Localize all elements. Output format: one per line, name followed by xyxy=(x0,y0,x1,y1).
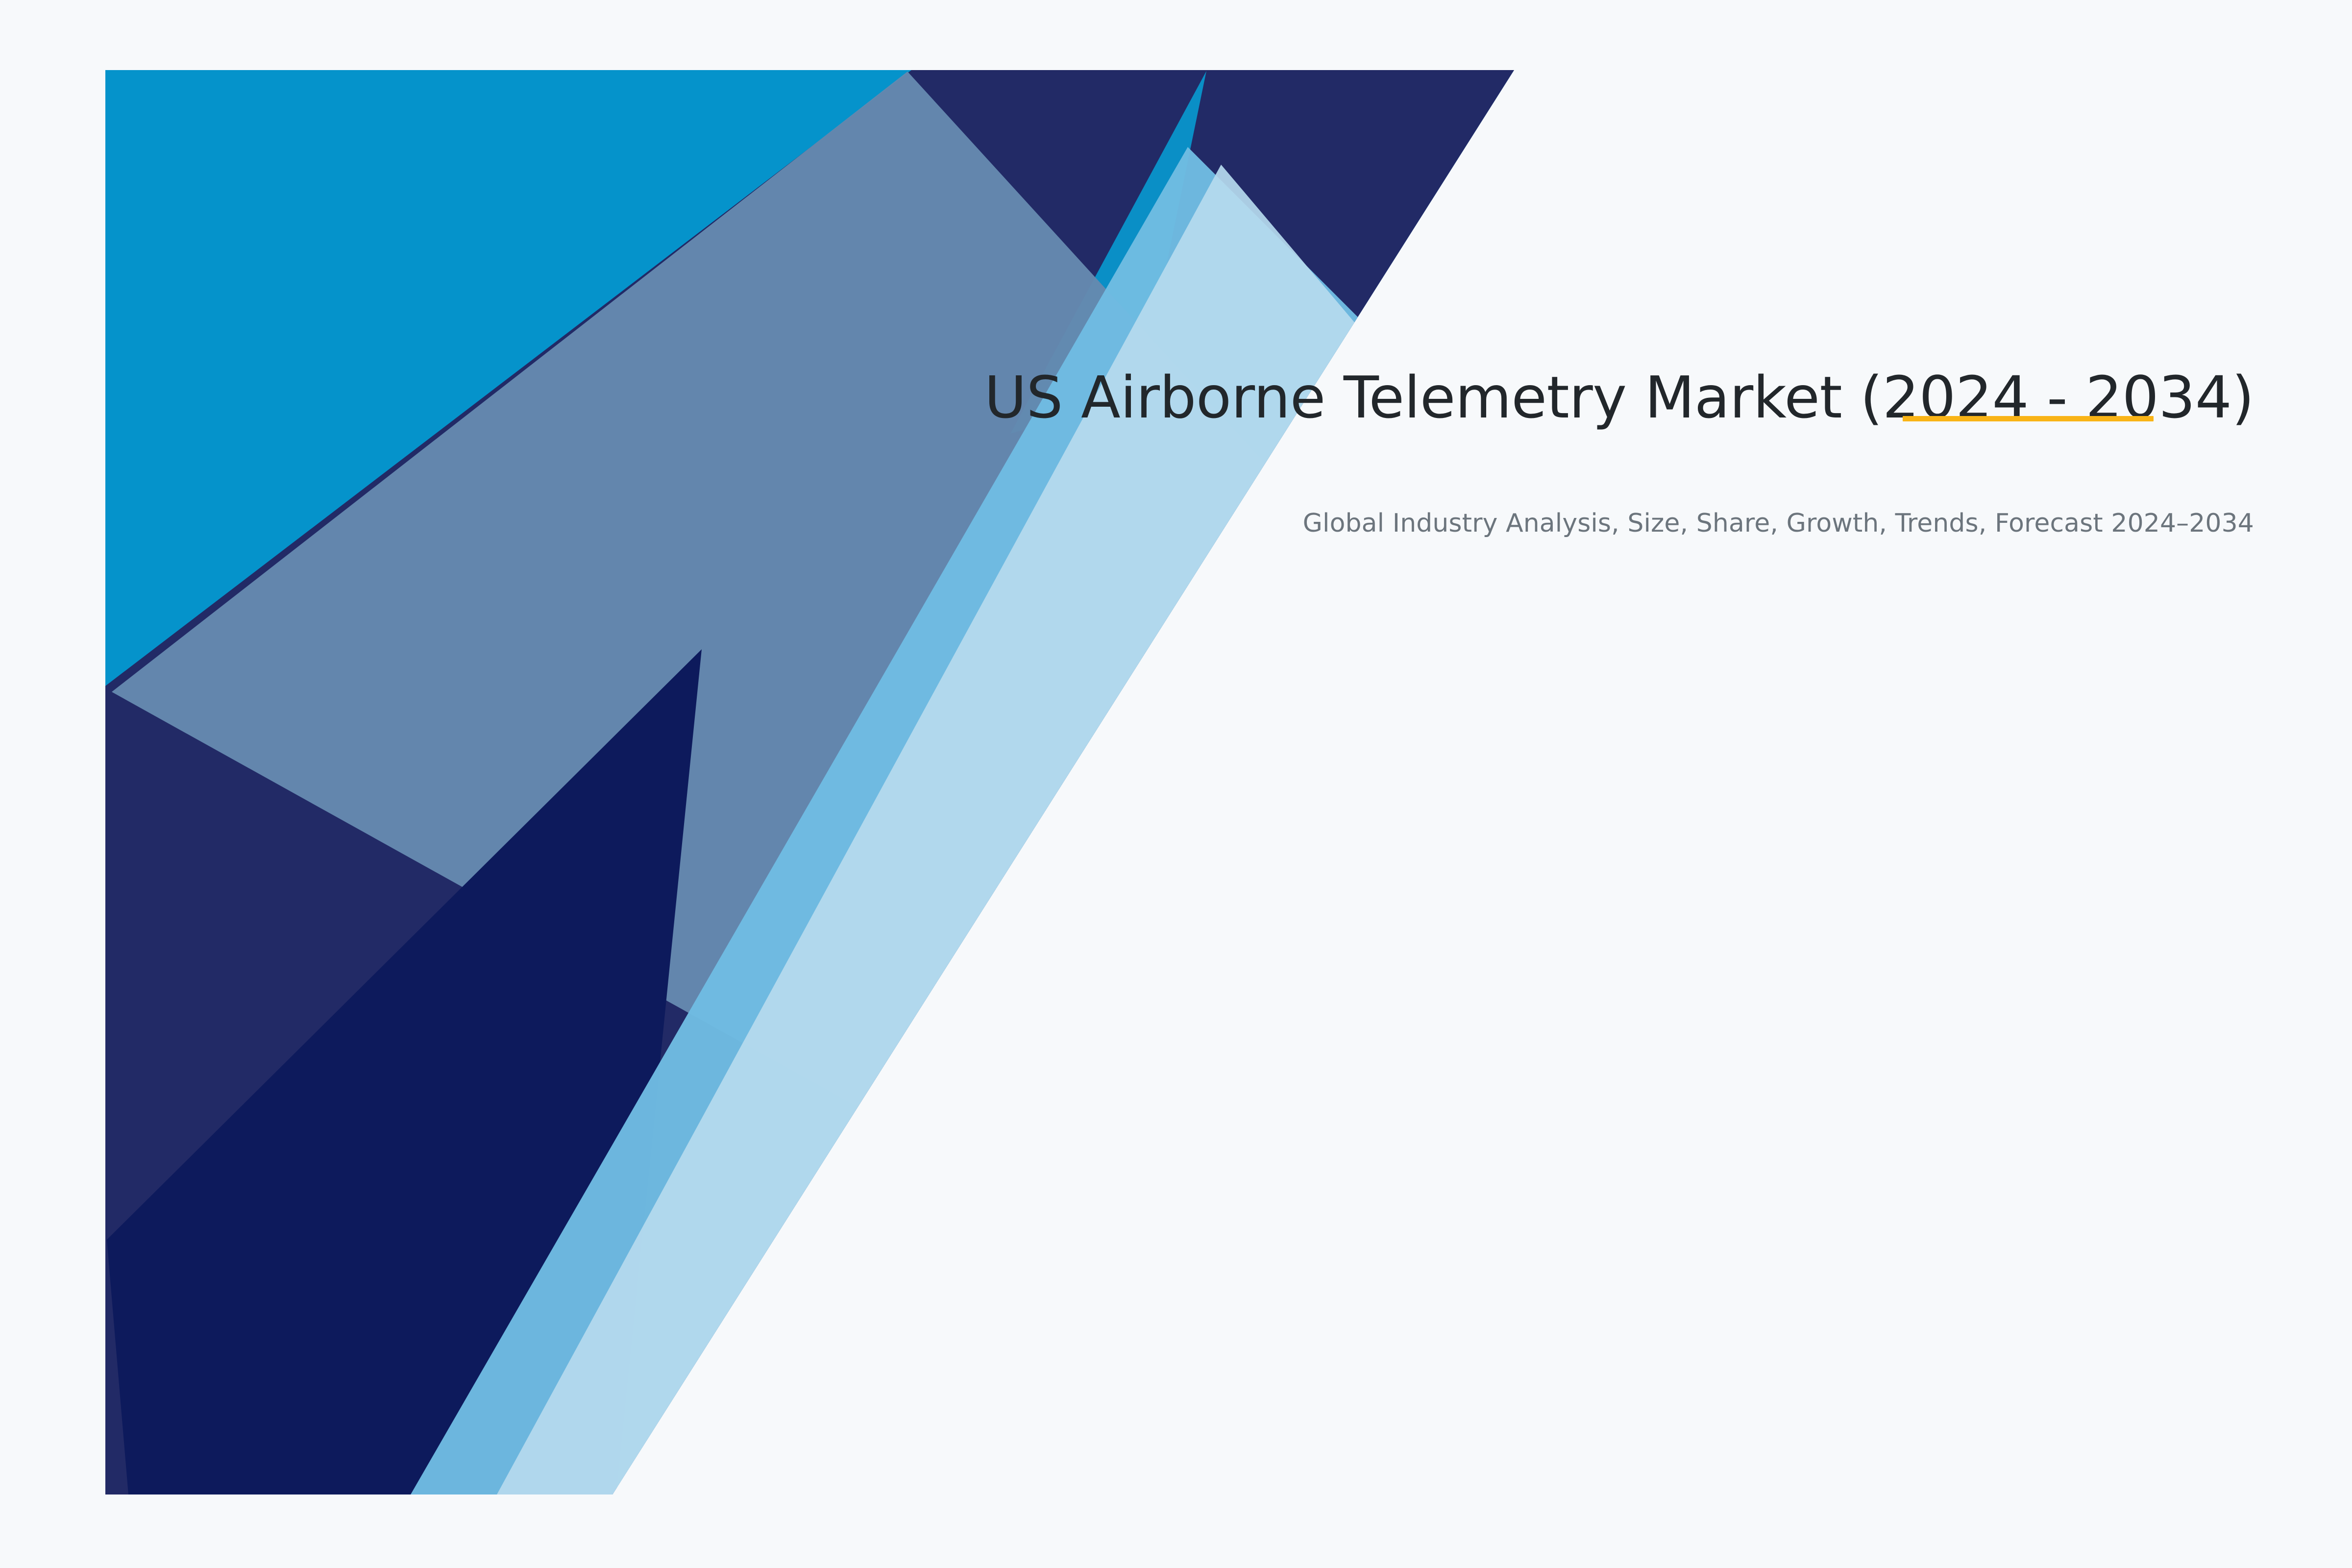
shape-navy-field xyxy=(105,70,1517,1494)
shape-cyan-top-left-field xyxy=(105,70,1517,1494)
shape-mid-cyan-band xyxy=(411,147,1407,1494)
title-wrapper: US Airborne Telemetry Market (2024 - 203… xyxy=(794,363,2254,433)
shape-steel-blue-diamond xyxy=(112,72,1378,1112)
report-cover: US Airborne Telemetry Market (2024 - 203… xyxy=(0,0,2352,1568)
cover-text-block: US Airborne Telemetry Market (2024 - 203… xyxy=(794,363,2254,540)
abstract-polygon-artwork xyxy=(0,0,2352,1568)
page-title: US Airborne Telemetry Market (2024 - 203… xyxy=(794,363,2254,433)
shape-navy-dark-lower-wedge xyxy=(107,649,702,1494)
page-subtitle: Global Industry Analysis, Size, Share, G… xyxy=(794,507,2254,540)
amber-accent-rule xyxy=(1903,416,2154,421)
